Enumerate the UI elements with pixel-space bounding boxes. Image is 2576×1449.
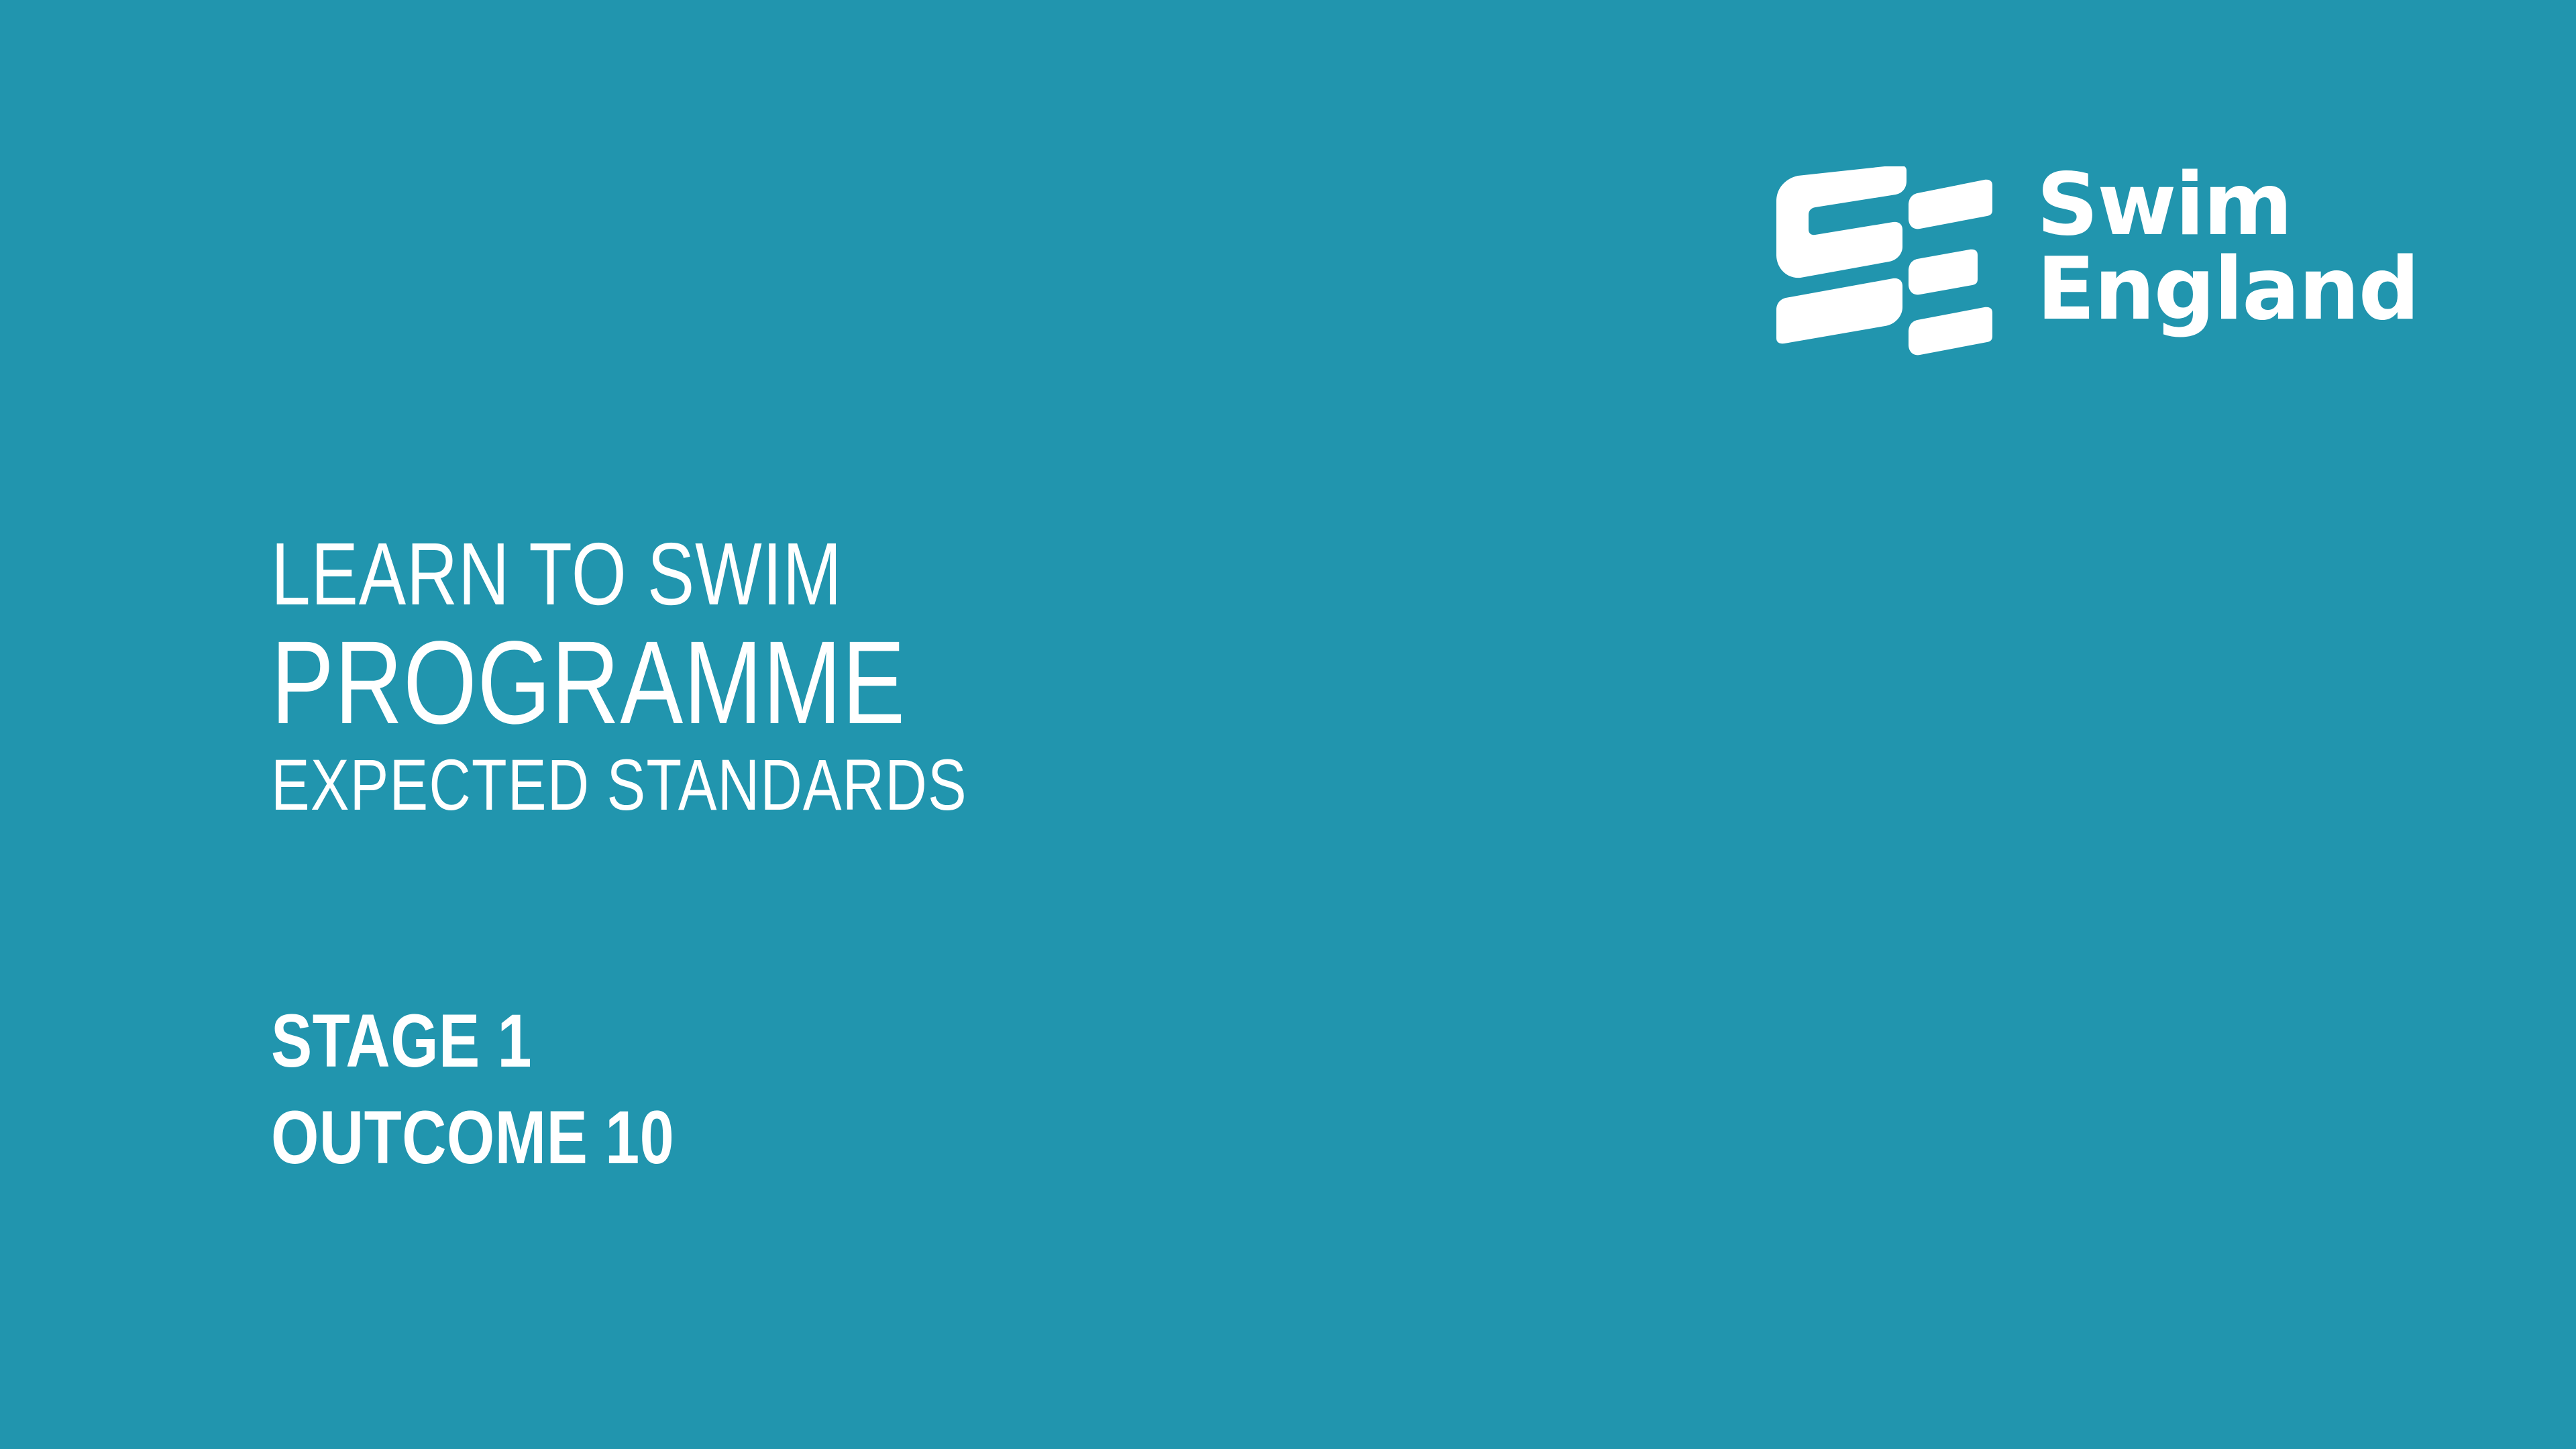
title-line-expected-standards: EXPECTED STANDARDS [271,749,1183,821]
title-line-learn-to-swim: LEARN TO SWIM [271,530,1183,619]
swim-england-mark-icon [1771,166,1992,368]
swim-england-logo: Swim England [1771,161,2428,376]
title-slide: Swim England LEARN TO SWIM PROGRAMME EXP… [0,0,2576,1449]
page-title: LEARN TO SWIM PROGRAMME EXPECTED STANDAR… [271,530,1411,821]
swim-england-wordmark: Swim England [2037,161,2426,376]
wordmark-line-england: England [2037,248,2426,331]
outcome-label: OUTCOME 10 [271,1100,1041,1175]
wordmark-line-swim: Swim [2037,164,2426,247]
title-line-programme: PROGRAMME [271,624,1183,742]
stage-outcome-block: STAGE 1 OUTCOME 10 [271,1004,1210,1175]
stage-label: STAGE 1 [271,1004,1041,1079]
